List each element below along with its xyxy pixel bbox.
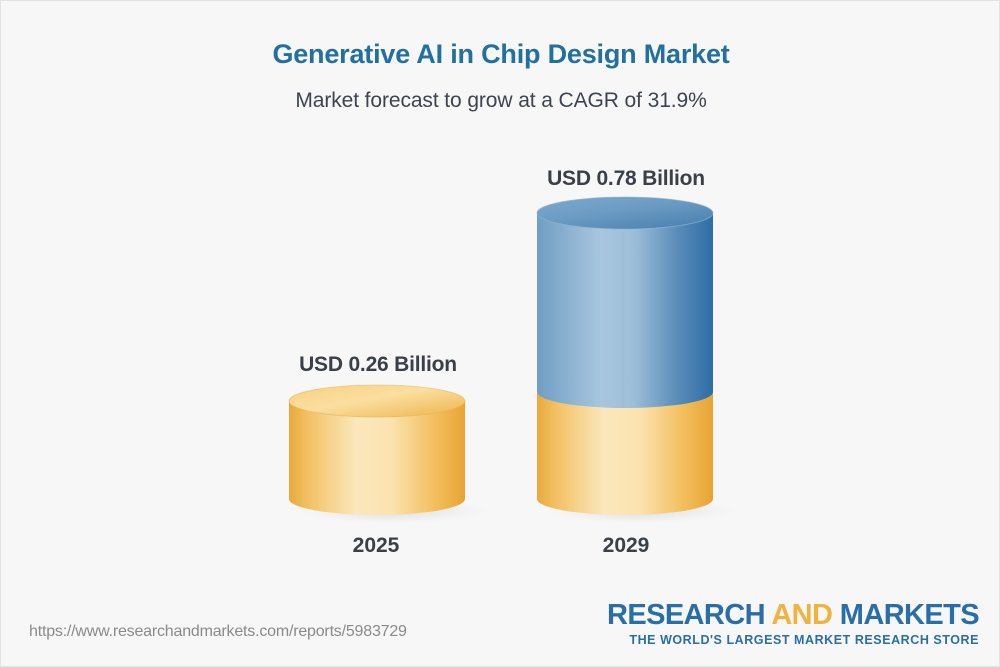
brand-word-research: RESEARCH — [607, 599, 771, 631]
brand-tagline: THE WORLD'S LARGEST MARKET RESEARCH STOR… — [579, 633, 979, 647]
infographic-canvas: Generative AI in Chip Design Market Mark… — [0, 0, 1000, 667]
bar-segment-blue-2029 — [537, 213, 713, 408]
chart-plot-area: USD 0.26 Billion — [1, 1, 1000, 601]
brand-logo[interactable]: RESEARCH AND MARKETS THE WORLD'S LARGEST… — [579, 601, 979, 647]
brand-word-markets: MARKETS — [832, 599, 979, 631]
category-label-2029: 2029 — [476, 534, 776, 558]
bar-value-label-2029: USD 0.78 Billion — [476, 167, 776, 191]
bar-value-label-2025: USD 0.26 Billion — [228, 353, 528, 377]
bar-cylinder-2025 — [287, 387, 487, 527]
bar-cylinder-2029 — [535, 199, 735, 527]
brand-word-and: AND — [771, 599, 832, 631]
bar-body-2025 — [289, 401, 465, 515]
report-url[interactable]: https://www.researchandmarkets.com/repor… — [29, 623, 407, 641]
brand-wordmark: RESEARCH AND MARKETS — [579, 601, 979, 630]
